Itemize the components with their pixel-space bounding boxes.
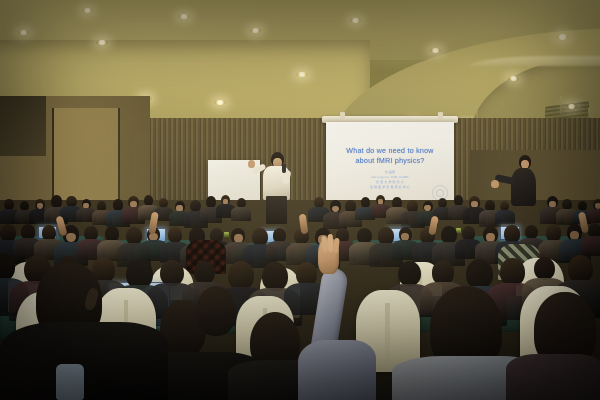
projection-screen: What do we need to know about fMRI physi…: [326, 122, 454, 206]
slide-subtitle-3: 长 庚 大 学 院 长 大: [326, 180, 454, 184]
audience-head-mid-7: [126, 227, 142, 245]
audience-head-near-11: [398, 261, 421, 286]
audience-head-near-14: [500, 258, 525, 286]
slide-subtitle-2: Hsi-Ling Liu, PhD, CAMR: [326, 175, 454, 179]
cup-mid-2: [224, 232, 229, 239]
audience-head-near-10: [296, 262, 317, 286]
light-hanger-3: [560, 96, 562, 114]
audience-torso-far-16: [231, 207, 251, 221]
cup-mid-4: [456, 228, 461, 235]
audience-head-near-13: [466, 259, 493, 289]
downlight-24: [250, 28, 261, 33]
slide-subtitle-1: 刘 磊博: [326, 170, 454, 174]
front-head-3: [196, 286, 236, 336]
audience-head-mid-27: [546, 224, 561, 241]
slide-title-line-1: What do we need to know: [326, 146, 454, 156]
screen-bracket-left: [340, 112, 345, 119]
foreground-left-torso: [0, 322, 168, 400]
presenter-left-hand: [248, 160, 255, 168]
downlight-10: [178, 14, 190, 19]
downlight-20: [566, 104, 577, 109]
audience-head-mid-9: [168, 227, 182, 243]
standing-attendee-torso: [511, 168, 536, 206]
downlight-7: [214, 100, 226, 105]
downlight-6: [96, 40, 108, 45]
audience-torso-mid-29: [581, 236, 600, 256]
downlight-11: [296, 72, 308, 77]
raised-hand-attendee-shoulder: [298, 340, 376, 400]
downlight-26: [350, 18, 361, 23]
presenter-trousers: [266, 196, 287, 224]
audience-head-near-12: [432, 260, 454, 284]
audience-torso-far-29: [495, 210, 515, 224]
audience-head-near-5: [126, 259, 153, 289]
downlight-1: [18, 30, 29, 35]
downlight-19: [508, 76, 519, 81]
conference-room-photo: What do we need to know about fMRI physi…: [0, 0, 600, 400]
downlight-25: [430, 48, 441, 53]
audience-head-near-15: [534, 257, 555, 281]
downlight-23: [82, 8, 93, 13]
downlight-14: [556, 34, 569, 40]
slide-title: What do we need to know about fMRI physi…: [326, 146, 454, 166]
screen-bracket-right: [438, 112, 443, 119]
audience-torso-far-33: [588, 209, 600, 224]
slide-title-line-2: about fMRI physics?: [326, 156, 454, 166]
audience-head-near-8: [228, 261, 254, 290]
audience-head-near-16: [568, 255, 593, 283]
foreground-left-bag: [56, 364, 84, 400]
microphone-icon: [282, 164, 286, 173]
audience-head-near-6: [160, 260, 184, 287]
standing-attendee-hand: [491, 180, 499, 188]
foreground-far-right-torso: [506, 354, 600, 400]
audience-head-near-7: [194, 261, 215, 285]
raised-hand-finger-2: [328, 234, 334, 252]
left-wall-shadow: [0, 96, 46, 156]
audience-head-near-9: [262, 262, 288, 291]
